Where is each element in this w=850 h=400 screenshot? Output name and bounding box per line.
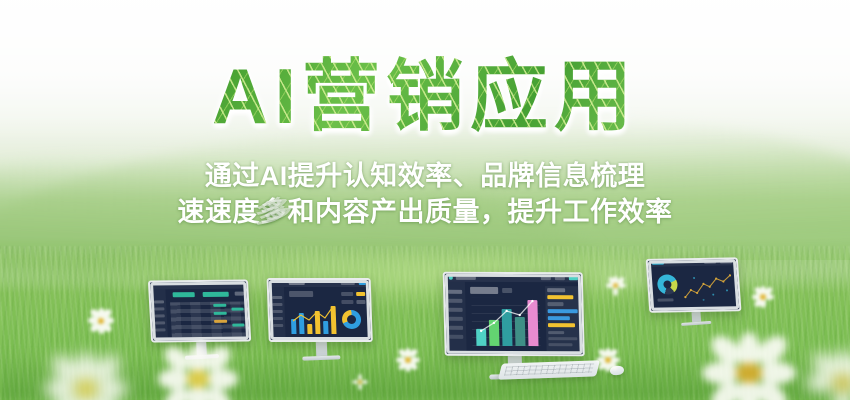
monitor-3-topbar-item bbox=[555, 276, 565, 280]
monitor-1-pill bbox=[235, 292, 244, 296]
tablet-analytics[interactable] bbox=[646, 255, 742, 328]
monitor-bar-dashboard[interactable] bbox=[267, 276, 374, 362]
monitor-2-topbar-item bbox=[359, 281, 366, 285]
daisy-flower-foreground bbox=[702, 332, 796, 400]
tablet-donut-gauge bbox=[657, 274, 678, 294]
daisy-flower bbox=[606, 276, 626, 296]
monitor-1-side-item bbox=[155, 328, 165, 331]
panel-row-bar bbox=[548, 309, 578, 313]
daisy-flower bbox=[88, 308, 114, 334]
donut-hole bbox=[347, 315, 356, 324]
subtitle-line-2: 速速度多和内容产出质量，提升工作效率 bbox=[0, 196, 850, 228]
monitor-2-side-item bbox=[272, 296, 282, 299]
panel-row-bar bbox=[547, 295, 573, 299]
monitor-3-side-item[interactable] bbox=[449, 317, 463, 321]
monitor-2-side-item bbox=[273, 310, 283, 313]
monitor-3-side-item[interactable] bbox=[448, 290, 462, 294]
logo-icon bbox=[449, 276, 453, 280]
tablet-scatter-chart bbox=[682, 272, 734, 303]
monitor-2-sidebar bbox=[269, 287, 286, 340]
tablet-caption bbox=[657, 298, 673, 301]
monitor-2-card-title bbox=[289, 291, 313, 297]
monitor-2-topbar-item bbox=[341, 281, 355, 285]
subtitle-line-1: 通过AI提升认知效率、品牌信息梳理 bbox=[0, 160, 850, 192]
monitor-3-screen bbox=[443, 272, 585, 356]
daisy-flower-foreground bbox=[44, 352, 128, 400]
monitor-1-screen bbox=[148, 280, 251, 343]
donut-hole bbox=[663, 280, 672, 288]
monitor-3-card-subtitle bbox=[502, 288, 512, 293]
monitor-1-side-item bbox=[154, 307, 164, 310]
monitor-2-stand-neck bbox=[315, 342, 326, 356]
subtitle-line-2-before: 速速度 bbox=[178, 197, 261, 227]
monitor-1-status-pill bbox=[214, 312, 227, 315]
monitor-2-kpi bbox=[341, 300, 353, 304]
tablet-topbar-item bbox=[720, 260, 732, 263]
monitor-1-pill bbox=[173, 292, 195, 297]
monitor-2-screen bbox=[267, 278, 373, 342]
monitor-1-status-pill bbox=[214, 320, 227, 323]
monitor-3-bar-chart bbox=[471, 298, 540, 346]
monitor-2-kpi bbox=[341, 292, 353, 296]
daisy-flower-small bbox=[352, 374, 368, 390]
monitor-2-side-item bbox=[272, 303, 282, 306]
monitor-2-donut-chart bbox=[342, 310, 362, 329]
panel-row-label bbox=[548, 331, 564, 334]
monitor-1-side-item bbox=[155, 314, 165, 317]
monitor-2-bar-chart bbox=[289, 302, 336, 334]
monitor-3-side-item[interactable] bbox=[449, 308, 463, 312]
monitor-2-topbar-item bbox=[289, 281, 305, 285]
panel-row-label bbox=[548, 343, 572, 346]
monitor-3-side-item[interactable] bbox=[448, 299, 462, 303]
monitor-1-status-pill bbox=[231, 308, 243, 311]
monitor-3-topbar-item bbox=[541, 276, 551, 280]
panel-row-label bbox=[547, 302, 563, 306]
daisy-flower bbox=[596, 348, 620, 372]
daisy-flower-foreground bbox=[806, 350, 850, 400]
monitor-3-card-title bbox=[470, 287, 498, 294]
tablet-topbar-item bbox=[652, 262, 664, 265]
monitor-2-side-item bbox=[273, 324, 283, 327]
panel-row-label bbox=[548, 337, 577, 340]
panel-row-label bbox=[547, 288, 565, 292]
monitor-1-pill bbox=[203, 292, 229, 297]
daisy-flower-foreground bbox=[158, 344, 238, 400]
monitor-1-status-pill bbox=[213, 304, 226, 307]
tablet-stand-neck bbox=[691, 312, 701, 323]
monitor-1-topbar bbox=[150, 282, 246, 290]
daisy-flower bbox=[752, 286, 774, 308]
subtitle-line-2-ghost-glyph: 多 bbox=[260, 196, 288, 228]
chart-trend-line bbox=[471, 298, 540, 346]
monitor-3-side-item[interactable] bbox=[449, 335, 463, 339]
tablet-screen bbox=[646, 257, 742, 312]
panel-row-bar bbox=[548, 316, 570, 320]
daisy-flower bbox=[396, 348, 420, 372]
ai-marketing-banner: AI营销应用 AI营销应用 通过AI提升认知效率、品牌信息梳理 速速度多和内容产… bbox=[0, 0, 850, 400]
panel-row-bar bbox=[548, 323, 575, 327]
subtitle-line-2-after: 和内容产出质量，提升工作效率 bbox=[288, 197, 673, 227]
tablet-topbar-item bbox=[704, 261, 716, 264]
monitor-2-side-item bbox=[273, 317, 283, 320]
monitor-1-side-item bbox=[154, 300, 164, 303]
monitor-3-cta-button[interactable] bbox=[569, 276, 578, 280]
page-title: AI营销应用 bbox=[0, 52, 850, 140]
monitor-1-side-item bbox=[155, 321, 165, 324]
monitor-3-side-item[interactable] bbox=[449, 326, 463, 330]
monitor-3-topbar-item bbox=[456, 276, 476, 280]
monitor-2-kpi bbox=[356, 292, 365, 296]
chart-trend-line bbox=[289, 302, 336, 334]
monitor-2-kpi bbox=[356, 300, 365, 304]
monitor-1-status-pill bbox=[232, 324, 244, 327]
